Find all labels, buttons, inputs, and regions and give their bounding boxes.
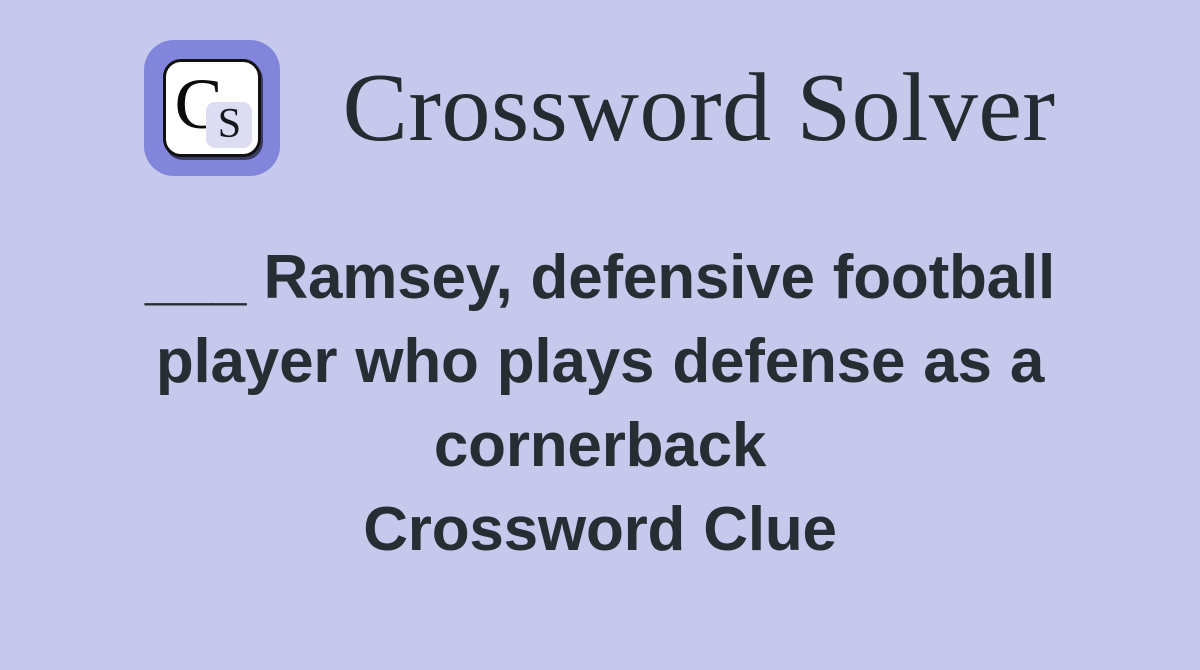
clue-blank: ___ <box>145 243 245 312</box>
logo-letter-s-tile: S <box>206 102 252 148</box>
crossword-solver-logo[interactable]: C S <box>144 40 280 176</box>
logo-letter-s: S <box>218 103 241 145</box>
clue-section: ___ Ramsey, defensive football player wh… <box>100 236 1100 572</box>
logo-inner-tile: C S <box>163 59 261 157</box>
clue-text: Ramsey, defensive football player who pl… <box>156 243 1055 480</box>
site-header: C S Crossword Solver <box>0 28 1200 188</box>
clue-suffix: Crossword Clue <box>100 488 1100 572</box>
page-title: ___ Ramsey, defensive football player wh… <box>100 236 1100 572</box>
page-root: C S Crossword Solver ___ Ramsey, defensi… <box>0 0 1200 670</box>
site-title[interactable]: Crossword Solver <box>342 53 1055 163</box>
